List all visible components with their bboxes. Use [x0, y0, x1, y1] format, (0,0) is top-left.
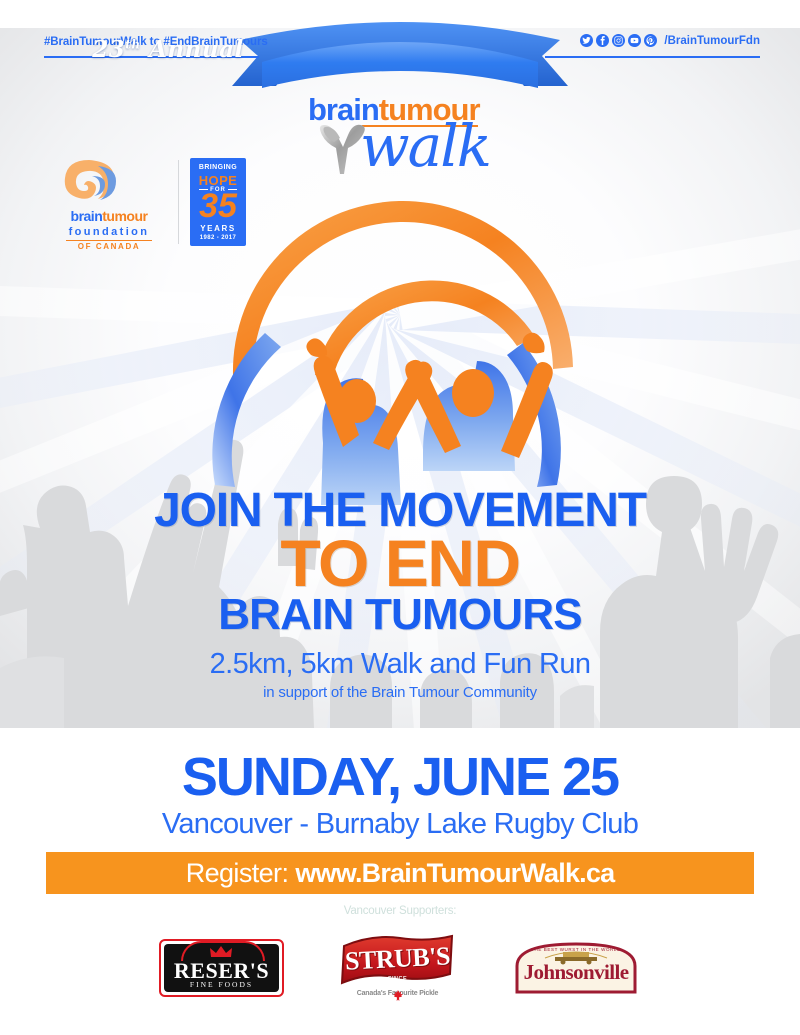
- foundation-divider-line: [66, 240, 152, 241]
- anniversary-bringing: BRINGING: [190, 164, 246, 171]
- register-label: Register:: [186, 858, 289, 889]
- brain-tumour-walk-logo: braintumour walk: [250, 92, 550, 174]
- foundation-tumour: tumour: [102, 208, 147, 224]
- instagram-icon[interactable]: [612, 34, 625, 47]
- anniversary-years: YEARS: [190, 224, 246, 233]
- headline-line-2: TO END: [0, 532, 800, 595]
- walk-poster: #BrainTumourWalk to #EndBrainTumours /Br…: [0, 0, 800, 1035]
- hashtag-underline: [44, 56, 259, 58]
- register-url[interactable]: www.BrainTumourWalk.ca: [295, 858, 614, 889]
- twitter-icon[interactable]: [580, 34, 593, 47]
- event-date: SUNDAY, JUNE 25: [0, 746, 800, 808]
- foundation-name-line3: OF CANADA: [50, 242, 168, 251]
- sponsor-johnsonville-top-text: THE BEST WURST IN THE WORLD: [511, 947, 641, 952]
- sponsor-strubs-name: STRUB'S: [339, 941, 455, 977]
- anniversary-badge: BRINGING HOPE FOR 35 YEARS 1982 - 2017: [190, 158, 246, 246]
- crown-icon: [209, 945, 233, 957]
- foundation-name-line2: foundation: [50, 226, 168, 238]
- sponsor-resers-logo: RESER'S FINE FOODS: [159, 939, 284, 997]
- foundation-name-line1: braintumour: [50, 208, 168, 224]
- event-location: Vancouver - Burnaby Lake Rugby Club: [0, 808, 800, 841]
- headline-line-3: BRAIN TUMOURS: [0, 593, 800, 637]
- sponsor-logos: RESER'S FINE FOODS STRUB'S SINCE 1929 Ca…: [0, 930, 800, 1005]
- anniversary-dates: 1982 - 2017: [190, 235, 246, 241]
- sponsor-johnsonville-name: Johnsonville: [511, 960, 641, 985]
- foundation-swirl-icon: [62, 158, 116, 200]
- event-support-line: in support of the Brain Tumour Community: [0, 684, 800, 701]
- event-distances: 2.5km, 5km Walk and Fun Run: [0, 648, 800, 681]
- sponsor-strubs-logo: STRUB'S SINCE 1929 Canada's Favourite Pi…: [340, 932, 455, 1004]
- sponsor-johnsonville-logo: THE BEST WURST IN THE WORLD Johnsonville: [511, 940, 641, 996]
- maple-leaf-icon: [393, 988, 403, 999]
- wordmark-walk: walk: [360, 112, 490, 180]
- hashtag-text: #BrainTumourWalk to #EndBrainTumours: [44, 36, 268, 48]
- social-underline: [545, 56, 760, 58]
- foundation-brain: brain: [71, 208, 103, 224]
- social-links[interactable]: /BrainTumourFdn: [580, 34, 760, 47]
- anniversary-hope: HOPE: [190, 173, 246, 188]
- foundation-logos: braintumour foundation OF CANADA BRINGIN…: [50, 158, 245, 246]
- anniversary-number: 35: [190, 189, 246, 223]
- pinterest-icon[interactable]: [644, 34, 657, 47]
- logo-divider: [178, 160, 179, 244]
- headline-block: JOIN THE MOVEMENT TO END BRAIN TUMOURS: [0, 487, 800, 637]
- annual-ribbon-banner: [232, 22, 568, 102]
- social-handle[interactable]: /BrainTumourFdn: [664, 35, 760, 47]
- celebrating-walkers-graphic: [205, 185, 595, 505]
- sponsors-label: Vancouver Supporters:: [0, 905, 800, 917]
- sponsor-resers-tagline: FINE FOODS: [159, 980, 284, 989]
- youtube-icon[interactable]: [628, 34, 641, 47]
- facebook-icon[interactable]: [596, 34, 609, 47]
- register-bar[interactable]: Register: www.BrainTumourWalk.ca: [46, 852, 754, 894]
